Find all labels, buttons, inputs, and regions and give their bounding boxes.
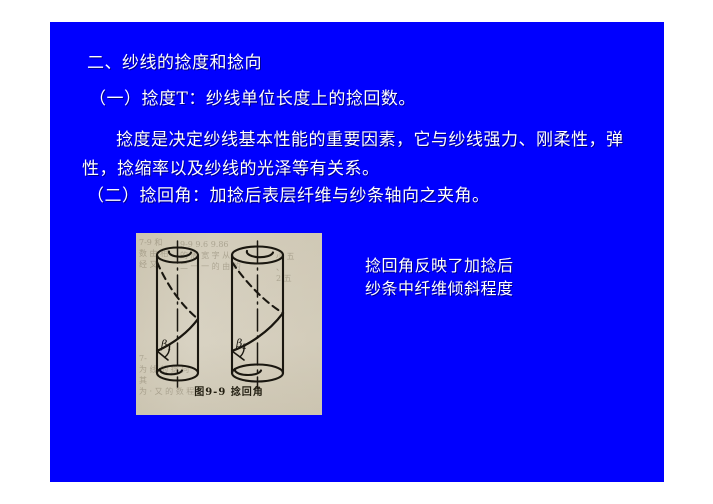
callout-twist-angle-note: 捻回角反映了加捻后 纱条中纤维倾斜程度	[365, 254, 514, 300]
presentation-slide: 二、纱线的捻度和捻向 （一）捻度T：纱线单位长度上的捻回数。 捻度是决定纱线基本…	[50, 22, 664, 482]
slide-canvas: 二、纱线的捻度和捻向 （一）捻度T：纱线单位长度上的捻回数。 捻度是决定纱线基本…	[0, 0, 713, 504]
definition-twist-degree: （一）捻度T：纱线单位长度上的捻回数。	[89, 88, 416, 110]
paragraph-twist-properties: 捻度是决定纱线基本性能的重要因素，它与纱线强力、刚柔性，弹性，捻缩率以及纱线的光…	[82, 126, 627, 184]
angle-label-beta2: β2	[235, 337, 247, 351]
page-title: 二、纱线的捻度和捻向	[87, 52, 262, 74]
definition-twist-angle: （二）捻回角：加捻后表层纤维与纱条轴向之夹角。	[87, 185, 490, 207]
figure-caption: 图9-9 捻回角	[136, 383, 322, 398]
angle-label-beta1: β1	[160, 338, 172, 352]
figure-twist-angle-image: 9-9 9.6 9.86 的 周 宽 字 从 二 一 一 的 由 的 7-9 和…	[136, 233, 322, 415]
